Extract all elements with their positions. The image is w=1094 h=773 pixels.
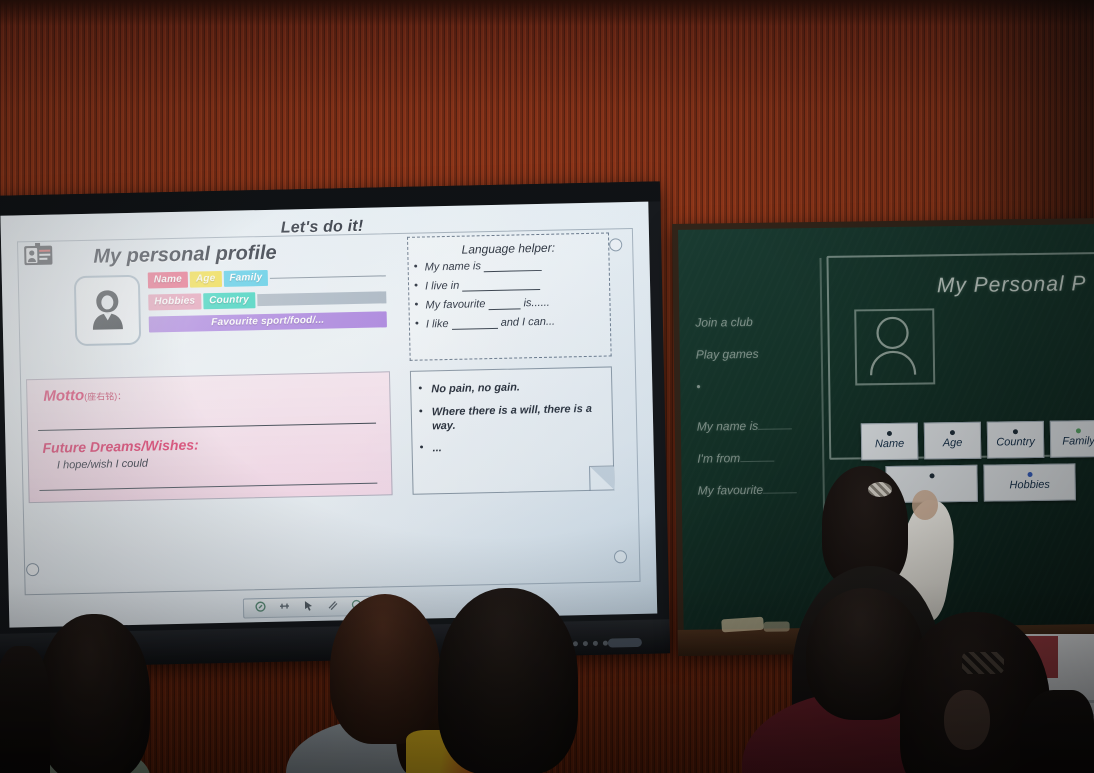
- student-far-left: [0, 646, 50, 773]
- tag-rule: [270, 275, 386, 279]
- tag-row-2: Hobbies Country: [148, 289, 386, 310]
- tack-icon: [1027, 472, 1032, 477]
- quote-item: No pain, no gain.: [431, 380, 601, 397]
- card-country[interactable]: Country: [987, 421, 1045, 459]
- card-hobbies[interactable]: Hobbies: [983, 463, 1076, 501]
- chalk-note: I'm from: [697, 450, 827, 466]
- tag-favourite: Favourite sport/food/...: [149, 311, 387, 332]
- page-fold-corner: [589, 465, 615, 491]
- quote-item: Where there is a will, there is a way.: [432, 402, 603, 433]
- card-label: Name: [875, 438, 905, 450]
- card-family[interactable]: Family: [1050, 420, 1094, 458]
- helper-item: I like and I can...: [426, 315, 604, 331]
- hair-clip-icon: [962, 652, 1004, 674]
- pen-icon[interactable]: [254, 599, 265, 617]
- helper-item-text: I live in: [425, 280, 460, 293]
- tag-row-1: Name Age Family: [148, 267, 386, 288]
- student-back-left-head: [38, 614, 150, 773]
- tag-country: Country: [203, 292, 255, 309]
- chalk-note: Join a club: [695, 314, 825, 330]
- student-dark-hair-head: [438, 588, 578, 773]
- card-label: Age: [943, 437, 963, 449]
- chalk-blank: [740, 451, 774, 462]
- id-badge-icon: [23, 243, 53, 267]
- tack-icon: [950, 430, 955, 435]
- student-far-right: [1020, 690, 1094, 773]
- blank-line: [462, 278, 540, 292]
- helper-item: My favourite is......: [425, 296, 603, 312]
- slide-title: Let's do it!: [281, 218, 364, 238]
- motto-label: Motto(座右铭)：: [43, 386, 126, 405]
- hair-clip-icon: [868, 482, 892, 497]
- tag-row-3: Favourite sport/food/...: [149, 311, 387, 332]
- chalk-notes-list: Join a club Play games • My name is I'm …: [695, 314, 828, 516]
- person-avatar-icon: [87, 287, 128, 334]
- language-helper-box: Language helper: My name is I live in My…: [407, 232, 612, 360]
- tag-name: Name: [148, 272, 188, 289]
- tag-rule: [257, 291, 387, 306]
- helper-item: I live in: [425, 277, 603, 293]
- motto-word: Motto: [43, 387, 84, 405]
- card-label: Family: [1062, 435, 1094, 447]
- helper-item-suffix: is......: [523, 297, 550, 310]
- motto-dreams-box: Motto(座右铭)： Future Dreams/Wishes: I hope…: [26, 371, 393, 503]
- future-dreams-label: Future Dreams/Wishes:: [42, 436, 199, 455]
- profile-tag-list: Name Age Family Hobbies Country Favourit…: [148, 267, 387, 338]
- future-dreams-sentence-starter: I hope/wish I could: [57, 458, 148, 472]
- card-name[interactable]: Name: [861, 423, 919, 461]
- classroom-photo: Let's do it! My personal p: [0, 0, 1094, 773]
- powerpoint-slide: Let's do it! My personal p: [9, 208, 649, 600]
- quote-list: No pain, no gain. Where there is a will,…: [411, 379, 613, 456]
- blank-line: [451, 317, 497, 330]
- tack-icon: [887, 431, 892, 436]
- quote-item: ...: [432, 439, 602, 456]
- motto-writing-line: [38, 423, 376, 431]
- chalk-stick[interactable]: [721, 617, 764, 633]
- my-personal-profile-block: My personal profile: [69, 239, 392, 366]
- language-helper-list: My name is I live in My favourite is....…: [409, 257, 610, 331]
- helper-item-text: My name is: [425, 260, 481, 273]
- tag-hobbies: Hobbies: [148, 293, 201, 310]
- card-age[interactable]: Age: [924, 422, 982, 460]
- helper-item: My name is: [425, 258, 603, 274]
- chalk-person-icon: [856, 310, 929, 379]
- eraser-icon[interactable]: [326, 597, 337, 615]
- card-label: Country: [996, 436, 1035, 449]
- motto-examples-box: No pain, no gain. Where there is a will,…: [410, 366, 615, 494]
- tack-icon: [1076, 428, 1081, 433]
- chalk-blank: [763, 482, 797, 493]
- card-row-1: Name Age Country Family: [861, 420, 1094, 460]
- profile-heading: My personal profile: [93, 242, 277, 269]
- chalk-note: My favourite: [698, 482, 828, 498]
- blank-line: [484, 259, 542, 272]
- student-writing-hand: [912, 490, 938, 520]
- tack-icon: [929, 473, 934, 478]
- student-hair-clip-face: [944, 690, 990, 750]
- dreams-writing-line: [39, 483, 377, 491]
- highlighter-icon[interactable]: [278, 599, 289, 617]
- language-helper-heading: Language helper:: [408, 239, 608, 257]
- chalk-note: Play games: [696, 346, 826, 362]
- tack-icon: [1013, 429, 1018, 434]
- tag-age: Age: [190, 271, 222, 288]
- helper-item-suffix: and I can...: [501, 316, 556, 329]
- eraser-block[interactable]: [764, 621, 790, 631]
- blank-line: [488, 298, 520, 311]
- helper-item-text: My favourite: [425, 298, 485, 311]
- interactive-flat-panel-display[interactable]: Let's do it! My personal p: [0, 181, 670, 668]
- chalk-note: My name is: [697, 418, 827, 434]
- student-ponytail-head: [330, 594, 440, 744]
- chalk-note: •: [696, 378, 826, 394]
- display-brand-plate: [608, 638, 642, 648]
- motto-chinese: (座右铭)：: [84, 391, 126, 402]
- pointer-icon[interactable]: [302, 598, 313, 616]
- chalk-avatar-frame: [854, 308, 935, 385]
- wall-top-shadow: [0, 0, 1094, 26]
- helper-item-text: I like: [426, 318, 449, 330]
- card-label: Hobbies: [1009, 479, 1050, 492]
- tag-family: Family: [223, 270, 268, 287]
- chalk-heading: My Personal P: [937, 272, 1087, 298]
- display-screen[interactable]: Let's do it! My personal p: [0, 202, 657, 628]
- avatar-frame: [74, 275, 142, 346]
- chalk-blank: [758, 418, 792, 429]
